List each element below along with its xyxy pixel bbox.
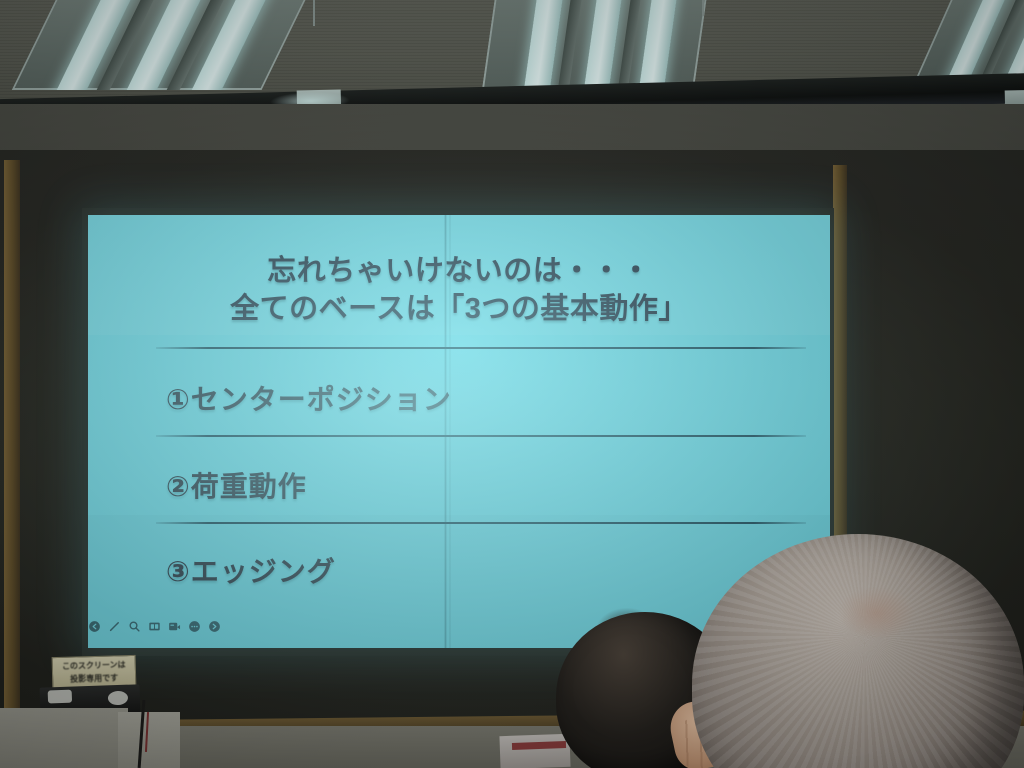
more-options-icon[interactable] <box>188 620 201 633</box>
list-item: ②荷重動作 <box>166 465 307 505</box>
presenter-toolbar[interactable] <box>88 618 225 635</box>
ceiling-hanger-rod <box>702 0 704 16</box>
equipment-label <box>48 690 72 704</box>
all-slides-icon[interactable] <box>148 620 161 633</box>
slide-divider-rule <box>156 435 806 437</box>
slide-divider-rule <box>156 522 806 524</box>
equipment-label <box>108 691 128 706</box>
ceiling-light-fixture <box>482 0 710 90</box>
wood-trim-post-left <box>4 160 20 768</box>
next-slide-icon[interactable] <box>208 620 221 633</box>
list-item: ③エッジング <box>166 550 336 590</box>
desk-object <box>499 734 570 768</box>
projection-screen[interactable]: 忘れちゃいけないのは・・・ 全てのベースは「3つの基本動作」 ①センターポジショ… <box>88 215 830 648</box>
screen-fold-seam <box>444 215 447 648</box>
pen-icon[interactable] <box>108 620 121 633</box>
slide-title-line-2: 全てのベースは「3つの基本動作」 <box>88 291 830 329</box>
side-cabinet <box>0 708 128 768</box>
scalp-highlight <box>838 586 916 640</box>
presentation-slide: 忘れちゃいけないのは・・・ 全てのベースは「3つの基本動作」 ①センターポジショ… <box>88 215 830 648</box>
list-item: ①センターポジション <box>166 378 452 418</box>
side-cabinet-panel <box>118 712 180 768</box>
wall-sign-line-2: 投影専用です <box>53 671 135 686</box>
screen-fold-seam <box>449 215 451 648</box>
presenter-view-icon[interactable] <box>168 620 181 633</box>
previous-slide-icon[interactable] <box>88 620 101 633</box>
ceiling-hanger-rod <box>313 0 315 26</box>
zoom-icon[interactable] <box>128 620 141 633</box>
slide-divider-rule <box>156 347 806 349</box>
slide-title-line-1: 忘れちゃいけないのは・・・ <box>267 255 651 287</box>
photo-scene: 忘れちゃいけないのは・・・ 全てのベースは「3つの基本動作」 ①センターポジショ… <box>0 0 1024 768</box>
slide-title: 忘れちゃいけないのは・・・ 全てのベースは「3つの基本動作」 <box>88 253 830 328</box>
